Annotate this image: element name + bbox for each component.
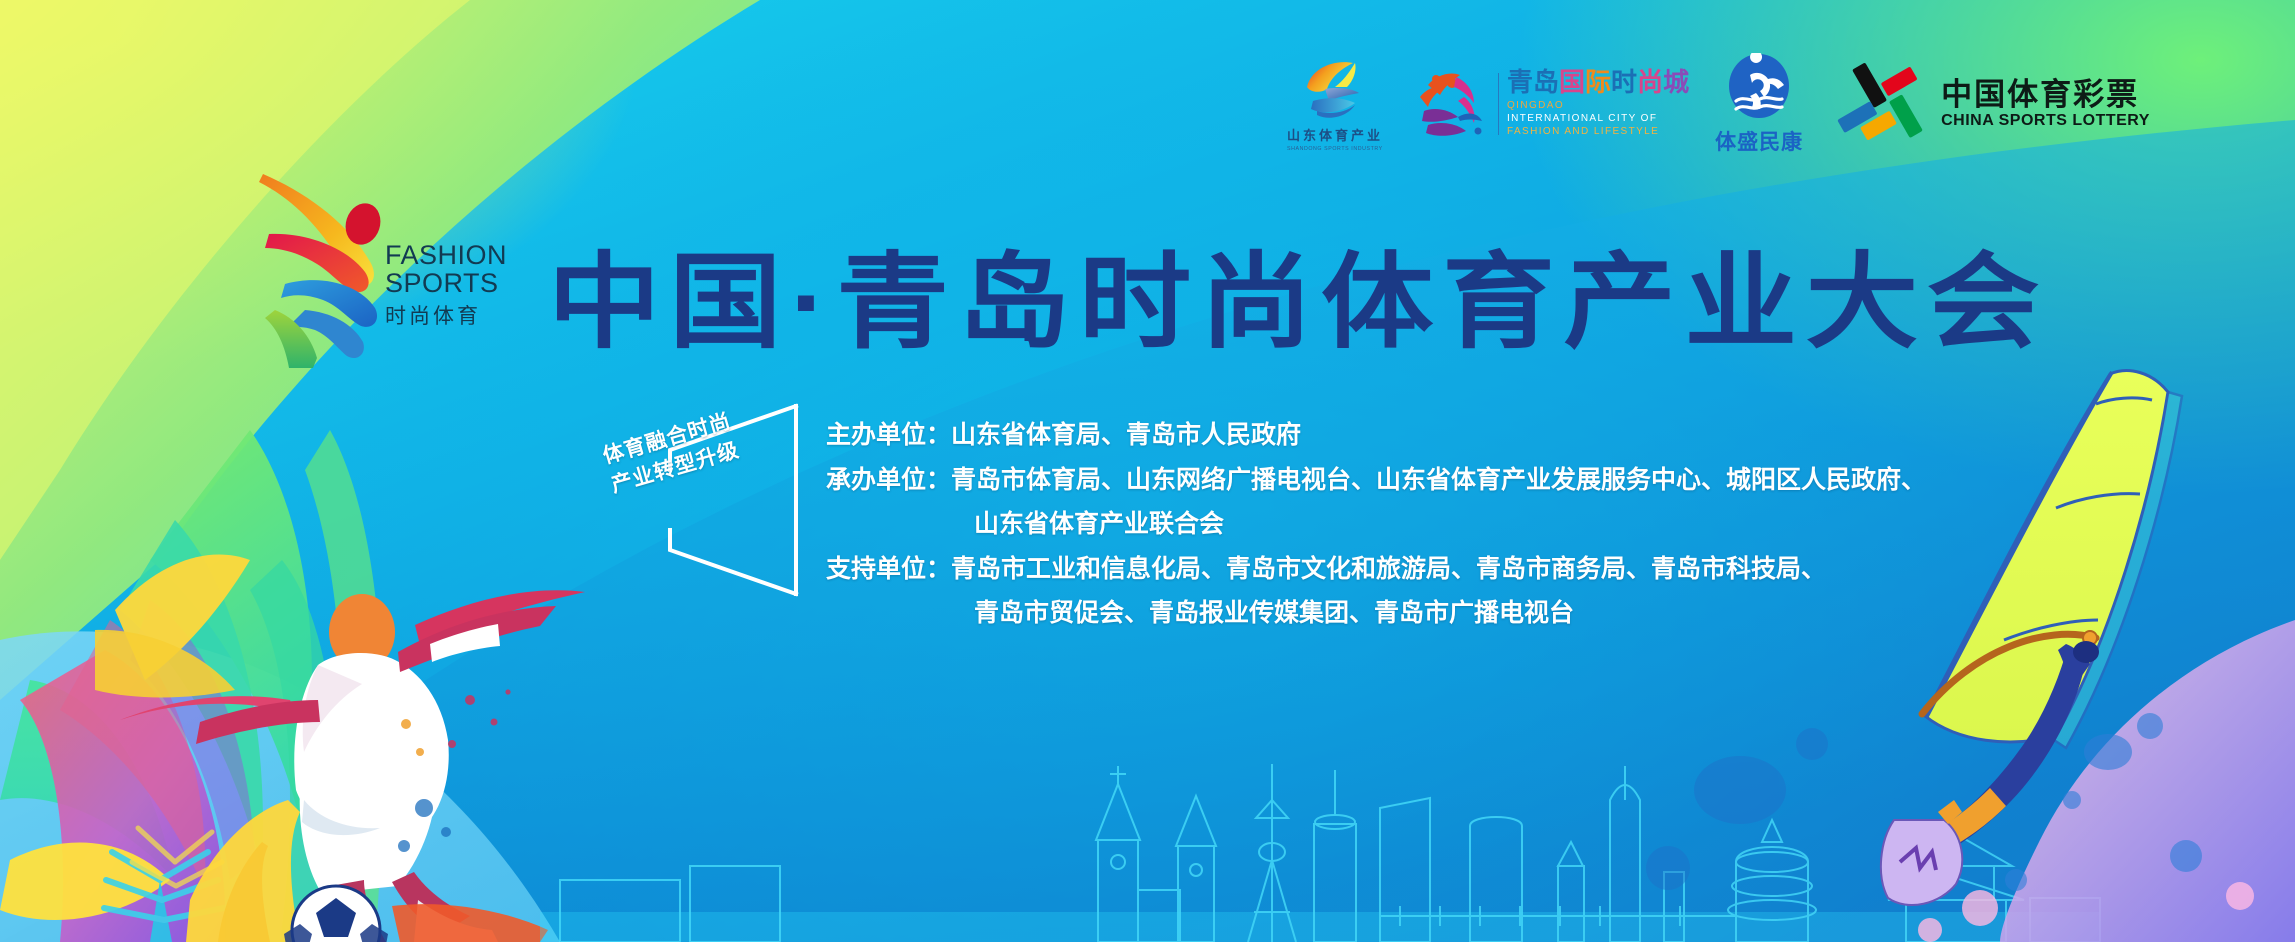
- logo-lottery-cn: 中国体育彩票: [1941, 79, 2150, 110]
- logo-qingdao-cn: 青岛国际时尚城: [1507, 69, 1689, 95]
- credits-block: 主办单位： 山东省体育局、青岛市人民政府 承办单位： 青岛市体育局、山东网络广播…: [826, 418, 2006, 641]
- poster-canvas: 山东体育产业 SHANDONG SPORTS INDUSTRY: [0, 0, 2295, 942]
- credit-label-organizer: 主办单位：: [826, 418, 951, 454]
- credit-row-organizer: 主办单位： 山东省体育局、青岛市人民政府: [826, 418, 2006, 454]
- credit-row-support: 支持单位： 青岛市工业和信息化局、青岛市文化和旅游局、青岛市商务局、青岛市科技局…: [826, 552, 2006, 588]
- logo-shandong-cn: 山东体育产业: [1287, 125, 1383, 144]
- logo-tisheng-cn: 体盛民康: [1715, 126, 1803, 156]
- credit-cont-host: 山东省体育产业联合会: [974, 507, 2006, 543]
- logo-china-sports-lottery: 中国体育彩票 CHINA SPORTS LOTTERY: [1833, 56, 2150, 152]
- logo-qingdao-en-2: INTERNATIONAL CITY OF: [1507, 113, 1689, 126]
- page-title: 中国·青岛时尚体育产业大会: [548, 240, 2068, 360]
- shandong-sports-mark: [1297, 57, 1373, 123]
- logo-qingdao-en: QINGDAO INTERNATIONAL CITY OF FASHION AN…: [1507, 100, 1689, 138]
- fs-cn: 时尚体育: [385, 300, 507, 330]
- tisheng-minkang-mark: [1726, 53, 1792, 125]
- credit-row-host: 承办单位： 青岛市体育局、山东网络广播电视台、山东省体育产业发展服务中心、城阳区…: [826, 463, 2006, 499]
- fs-en-line2: SPORTS: [385, 270, 507, 298]
- logo-lottery-en: CHINA SPORTS LOTTERY: [1941, 113, 2150, 129]
- credit-label-host: 承办单位：: [826, 463, 951, 499]
- logo-shandong-sports-industry: 山东体育产业 SHANDONG SPORTS INDUSTRY: [1280, 57, 1390, 152]
- sponsor-logo-bar: 山东体育产业 SHANDONG SPORTS INDUSTRY: [1280, 38, 2220, 170]
- qingdao-fashion-mark: [1412, 63, 1490, 145]
- credit-label-support: 支持单位：: [826, 552, 951, 588]
- logo-qingdao-en-1: QINGDAO: [1507, 100, 1689, 113]
- china-sports-lottery-mark: [1833, 56, 1929, 152]
- logo-shandong-en: SHANDONG SPORTS INDUSTRY: [1287, 146, 1383, 152]
- credit-value-host: 青岛市体育局、山东网络广播电视台、山东省体育产业发展服务中心、城阳区人民政府、: [951, 463, 1926, 499]
- logo-divider: [1498, 73, 1499, 135]
- credit-value-support: 青岛市工业和信息化局、青岛市文化和旅游局、青岛市商务局、青岛市科技局、: [951, 552, 1826, 588]
- credit-cont-support: 青岛市贸促会、青岛报业传媒集团、青岛市广播电视台: [974, 596, 2006, 632]
- fashion-sports-logo-text: FASHION SPORTS 时尚体育: [385, 242, 507, 330]
- page-title-text: 中国·青岛时尚体育产业大会: [548, 245, 2048, 360]
- logo-qingdao-en-3: FASHION AND LIFESTYLE: [1507, 126, 1689, 139]
- fs-en-line1: FASHION: [385, 242, 507, 270]
- credit-value-organizer: 山东省体育局、青岛市人民政府: [951, 418, 1301, 454]
- logo-qingdao-fashion-city: 青岛国际时尚城 QINGDAO INTERNATIONAL CITY OF FA…: [1412, 63, 1689, 145]
- logo-tisheng-minkang: 体盛民康: [1715, 53, 1803, 156]
